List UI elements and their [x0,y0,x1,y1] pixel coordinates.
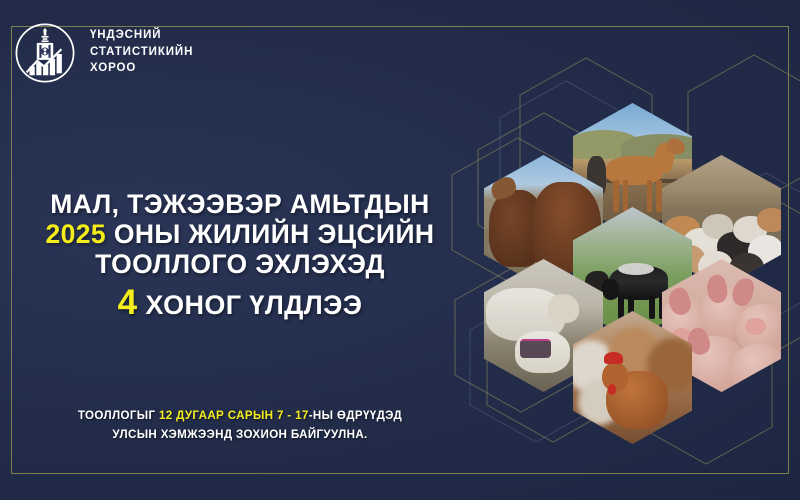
headline-days-accent: 4 [118,283,138,322]
caption-line-1-pre: ТООЛЛОГЫГ [78,409,159,422]
hexagon-photo-collage [440,85,800,500]
logo-line-2: СТАТИСТИКИЙН [90,44,193,61]
caption-line-1: ТООЛЛОГЫГ 12 ДУГААР САРЫН 7 - 17-НЫ ӨДРҮ… [14,406,466,425]
headline-line-2-rest: ОНЫ ЖИЛИЙН ЭЦСИЙН [106,219,434,249]
headline-line-4-rest: ХОНОГ ҮЛДЛЭЭ [137,290,362,320]
caption-date-accent: 12 ДУГААР САРЫН 7 - 17 [159,409,309,422]
poster-canvas: ҮНДЭСНИЙ СТАТИСТИКИЙН ХОРОО МАЛ, ТЭЖЭЭВЭ… [0,0,800,500]
logo-line-3: ХОРОО [90,60,193,77]
caption-line-1-post: -НЫ ӨДРҮҮДЭД [309,409,402,422]
logo-line-1: ҮНДЭСНИЙ [90,27,193,44]
headline-line-3: ТООЛЛОГО ЭХЛЭХЭД [14,250,466,280]
headline: МАЛ, ТЭЖЭЭВЭР АМЬТДЫН 2025 ОНЫ ЖИЛИЙН ЭЦ… [14,190,466,320]
headline-line-2: 2025 ОНЫ ЖИЛИЙН ЭЦСИЙН [14,220,466,250]
organization-logo[interactable]: ҮНДЭСНИЙ СТАТИСТИКИЙН ХОРОО [14,22,193,84]
footer-caption: ТООЛЛОГЫГ 12 ДУГААР САРЫН 7 - 17-НЫ ӨДРҮ… [14,406,466,444]
headline-line-4: 4 ХОНОГ ҮЛДЛЭЭ [14,287,466,321]
national-statistics-office-emblem-icon [14,22,76,84]
organization-name: ҮНДЭСНИЙ СТАТИСТИКИЙН ХОРОО [90,22,193,77]
headline-line-1: МАЛ, ТЭЖЭЭВЭР АМЬТДЫН [14,190,466,220]
caption-line-2: УЛСЫН ХЭМЖЭЭНД ЗОХИОН БАЙГУУЛНА. [14,425,466,444]
headline-year-accent: 2025 [46,219,107,249]
